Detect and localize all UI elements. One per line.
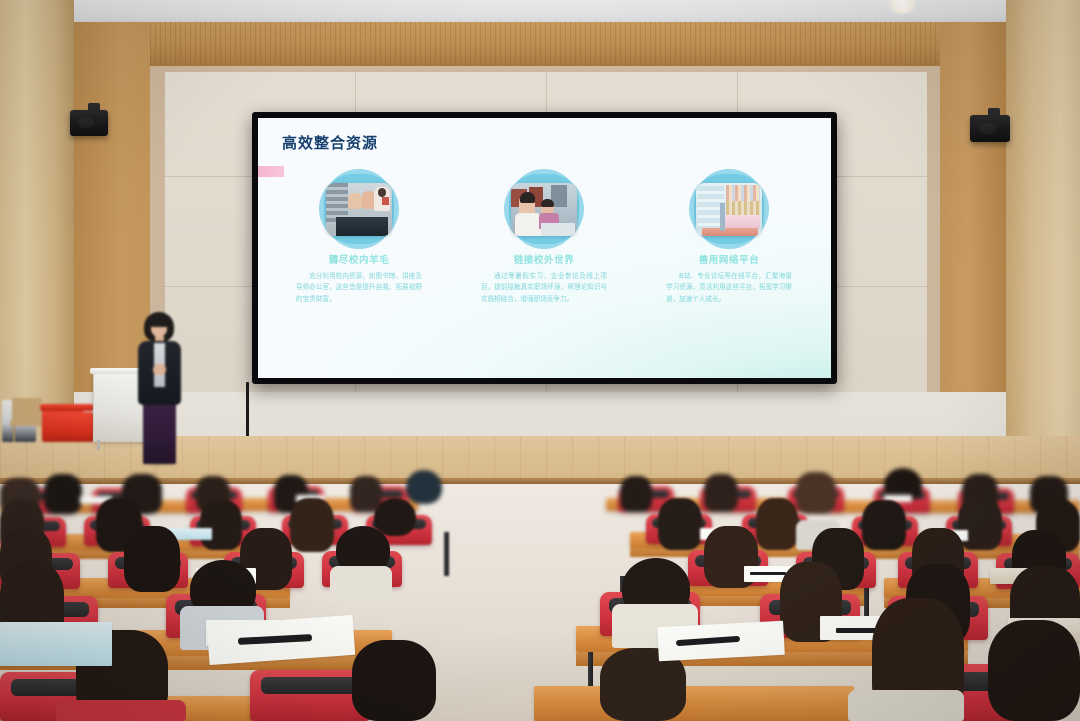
student-hair xyxy=(958,498,1002,550)
clover-shape-1 xyxy=(311,170,407,248)
projection-screen[interactable]: 高效整合资源 薅尽校 xyxy=(252,112,837,384)
red-stool-top xyxy=(40,404,94,411)
slide-pink-accent xyxy=(258,166,284,177)
student-hair xyxy=(704,474,738,512)
wooden-chair-seat xyxy=(10,420,46,426)
slide-content: 高效整合资源 薅尽校 xyxy=(258,118,831,378)
slide-columns: 薅尽校内羊毛 充分利用校内资源，如图书馆、讲座及导师办公室，这些皆是提升自我、拓… xyxy=(284,170,804,360)
student-head xyxy=(406,470,442,504)
column-body-3: B站、专业论坛等在线平台，汇聚海量学习资源，灵活利用这些平台，拓宽学习渠道，加速… xyxy=(666,271,792,305)
wall-speaker-right-icon xyxy=(970,115,1010,142)
presenter xyxy=(130,312,188,464)
presenter-skirt xyxy=(143,402,176,464)
red-stool-3 xyxy=(74,412,94,442)
column-body-2: 通过寒暑假实习、企业参访及线上项目，提前接触真实职场环境，将理论知识与实践相结合… xyxy=(481,271,607,305)
student-head xyxy=(374,498,416,536)
desk xyxy=(534,686,854,721)
student-hair xyxy=(200,500,242,550)
podium-leg xyxy=(97,440,100,450)
presenter-hands xyxy=(153,364,166,375)
student-hair xyxy=(988,620,1080,721)
screen-power-cable xyxy=(246,382,249,444)
slide-column-online-platform: 善用网络平台 B站、专业论坛等在线平台，汇聚海量学习资源，灵活利用这些平台，拓宽… xyxy=(654,170,804,360)
office-computers-photo-icon xyxy=(511,183,577,236)
wall-wood-header xyxy=(150,22,940,66)
student-torso xyxy=(330,566,392,602)
student-hair xyxy=(290,498,334,552)
wall-speaker-left-icon xyxy=(70,110,108,136)
presenter-hair-front xyxy=(145,315,173,327)
student-hair xyxy=(352,640,436,721)
library-students-photo-icon xyxy=(326,183,392,236)
wooden-chair-back xyxy=(12,398,42,420)
laptop-bookshelf-photo-icon xyxy=(696,183,762,236)
wall-panel-right xyxy=(1006,0,1080,470)
column-heading-3: 善用网络平台 xyxy=(699,252,760,266)
student-hair xyxy=(756,498,798,550)
column-heading-2: 链接校外世界 xyxy=(514,252,575,266)
slide-column-outside-world: 链接校外世界 通过寒暑假实习、企业参访及线上项目，提前接触真实职场环境，将理论知… xyxy=(469,170,619,360)
notebook xyxy=(0,622,112,666)
student-hair xyxy=(620,476,652,512)
student-hair xyxy=(44,474,82,514)
student-torso xyxy=(56,700,186,721)
lecture-hall-photo: 高效整合资源 薅尽校 xyxy=(0,0,1080,721)
desk-leg xyxy=(444,532,449,576)
slide-column-campus-resources: 薅尽校内羊毛 充分利用校内资源，如图书馆、讲座及导师办公室，这些皆是提升自我、拓… xyxy=(284,170,434,360)
student-hair xyxy=(124,526,180,592)
clover-shape-3 xyxy=(681,170,777,248)
column-heading-1: 薅尽校内羊毛 xyxy=(329,252,390,266)
slide-title: 高效整合资源 xyxy=(282,132,378,153)
student-torso xyxy=(848,690,964,721)
pen xyxy=(750,572,786,575)
chair-leg xyxy=(13,426,15,442)
student-hair xyxy=(796,472,836,514)
clover-shape-2 xyxy=(496,170,592,248)
student-hair xyxy=(862,500,906,550)
column-body-1: 充分利用校内资源，如图书馆、讲座及导师办公室，这些皆是提升自我、拓展视野的宝贵财… xyxy=(296,271,422,305)
student-hair xyxy=(658,498,702,550)
